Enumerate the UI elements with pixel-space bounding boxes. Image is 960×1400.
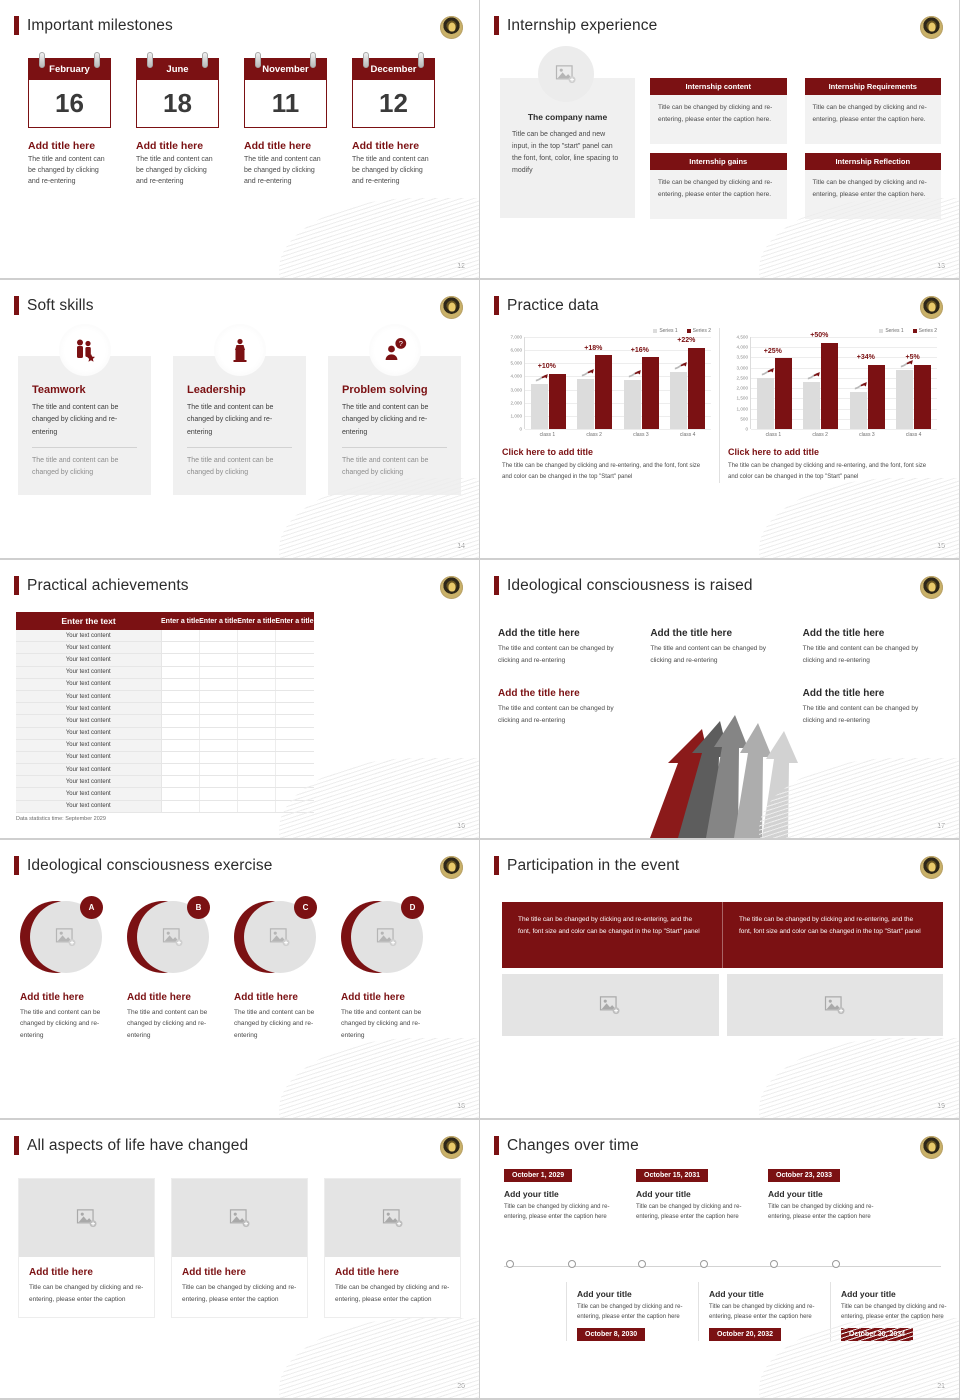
list-item: D Add title here The title and content c…: [341, 898, 426, 1041]
title-accent-bar: [494, 16, 499, 35]
page-number: 20: [457, 1383, 465, 1390]
table-cell[interactable]: [161, 715, 199, 727]
table-cell[interactable]: [275, 642, 313, 654]
table-cell-label: Your text content: [16, 654, 161, 666]
timeline-body: Title can be changed by clicking and re-…: [577, 1302, 686, 1322]
table-header-cell: Enter a title: [199, 612, 237, 630]
circle-image[interactable]: D: [341, 898, 426, 978]
bar-annotation: +50%: [810, 332, 828, 339]
table-cell[interactable]: [161, 788, 199, 800]
item-body: The title and content can be changed by …: [127, 1007, 212, 1041]
y-tick-label: 1,000: [737, 406, 749, 411]
bar-chart: 01,0002,0003,0004,0005,0006,0007,000 +10…: [502, 337, 711, 429]
calendar-day: 12: [353, 80, 434, 127]
university-emblem-icon: [920, 576, 943, 599]
calendar-ring-icon: [94, 52, 100, 68]
item-badge: A: [80, 896, 103, 919]
table-cell-label: Your text content: [16, 788, 161, 800]
list-item: A Add title here The title and content c…: [20, 898, 105, 1041]
table-cell-label: Your text content: [16, 776, 161, 788]
bar-chart: 05001,0001,5002,0002,5003,0003,5004,0004…: [728, 337, 937, 429]
calendar-ring-icon: [147, 52, 153, 68]
page-title: Practice data: [507, 297, 599, 315]
timeline-marker: [568, 1260, 576, 1268]
band-text-left: The title can be changed by clicking and…: [502, 902, 722, 968]
quadrant-body: Title can be changed by clicking and re-…: [805, 170, 942, 219]
y-axis: 01,0002,0003,0004,0005,0006,0007,000: [502, 337, 524, 429]
item-heading: Add title here: [28, 140, 111, 152]
item-heading: Add title here: [341, 992, 426, 1003]
timeline-body: Title can be changed by clicking and re-…: [768, 1202, 888, 1222]
title-accent-bar: [494, 296, 499, 315]
bar-annotation: +18%: [584, 345, 602, 352]
slide-header: Participation in the event: [494, 856, 679, 875]
bar-group: +50%: [798, 337, 845, 429]
growth-arrow-icon: [598, 703, 848, 838]
slide-all-aspects-of-life-changed: All aspects of life have changed Add tit…: [0, 1120, 480, 1400]
growth-arrow-icon: [807, 371, 820, 380]
title-accent-bar: [494, 856, 499, 875]
timeline-marker: [638, 1260, 646, 1268]
plot-area: +10% +18% +16% +22%: [524, 337, 711, 429]
company-body: Title can be changed and new input, in t…: [512, 129, 623, 177]
bar-series-1: [803, 382, 820, 429]
list-item: Add title here Title can be changed by c…: [18, 1178, 155, 1318]
legend-entry: Series 1: [879, 328, 903, 334]
table-row: Your text content: [16, 678, 314, 690]
list-item: ? Problem solving The title and content …: [328, 356, 461, 495]
calendar-ring-icon: [363, 52, 369, 68]
table-cell-label: Your text content: [16, 642, 161, 654]
y-tick-label: 1,500: [737, 396, 749, 401]
growth-arrow-icon: [900, 359, 913, 368]
plot-area: +25% +50% +34% +5%: [750, 337, 937, 429]
page-number: 14: [457, 543, 465, 550]
table-cell[interactable]: [199, 715, 237, 727]
quadrant-heading: Internship Requirements: [805, 78, 942, 95]
slide-header: Ideological consciousness is raised: [494, 576, 753, 595]
divider: [32, 447, 137, 448]
table-cell-label: Your text content: [16, 690, 161, 702]
y-tick-label: 2,000: [737, 386, 749, 391]
person-question-glyph: ?: [382, 337, 408, 363]
image-placeholder-glyph: [229, 1209, 251, 1228]
image-placeholder-icon[interactable]: [538, 46, 594, 102]
timeline-item-top: October 15, 2031 Add your title Title ca…: [636, 1164, 756, 1222]
table-cell[interactable]: [237, 776, 275, 788]
table-cell[interactable]: [199, 690, 237, 702]
page-number: 16: [457, 823, 465, 830]
bar-groups: +10% +18% +16% +22%: [525, 337, 711, 429]
block-heading: Add the title here: [650, 628, 788, 639]
growth-arrow-icon: [674, 361, 687, 370]
table-cell[interactable]: [237, 727, 275, 739]
table-row: Your text content: [16, 751, 314, 763]
table-cell[interactable]: [199, 751, 237, 763]
skill-list: Teamwork The title and content can be ch…: [18, 356, 461, 495]
slide-practice-data: Practice data Series 1Series 2 01,0002,0…: [480, 280, 960, 560]
speaker-podium-icon: [214, 324, 266, 376]
quadrant-internship-content: Internship content Title can be changed …: [650, 78, 787, 144]
skill-body-primary: The title and content can be changed by …: [32, 402, 137, 439]
table-cell[interactable]: [275, 727, 313, 739]
bar-group: +22%: [665, 337, 712, 429]
table-cell[interactable]: [199, 776, 237, 788]
y-tick-label: 3,500: [737, 355, 749, 360]
table-row: Your text content: [16, 666, 314, 678]
image-placeholder-icon[interactable]: [172, 1179, 307, 1257]
table-cell[interactable]: [161, 654, 199, 666]
arrow-wrap: [632, 369, 645, 378]
skill-body-primary: The title and content can be changed by …: [342, 402, 447, 439]
title-accent-bar: [494, 576, 499, 595]
slide-ideological-consciousness-exercise: Ideological consciousness exercise A Add…: [0, 840, 480, 1120]
x-tick-label: class 4: [890, 429, 937, 438]
arrow-wrap: [811, 371, 824, 380]
table-cell[interactable]: [275, 715, 313, 727]
timeline-marker: [700, 1260, 708, 1268]
table-cell-label: Your text content: [16, 739, 161, 751]
item-badge: D: [401, 896, 424, 919]
list-item: Add the title here The title and content…: [803, 628, 941, 666]
chart-caption-body: The title can be changed by clicking and…: [728, 461, 937, 483]
milestone-list: February 16 Add title here The title and…: [28, 58, 461, 188]
card-body: Add title here Title can be changed by c…: [172, 1257, 307, 1317]
bar-series-1: [896, 370, 913, 429]
skill-body-secondary: The title and content can be changed by …: [32, 455, 137, 480]
growth-arrow-icon: [628, 369, 641, 378]
bar-annotation: +25%: [764, 348, 782, 355]
item-badge: C: [294, 896, 317, 919]
table-header-cell: Enter a title: [275, 612, 313, 630]
slide-header: Practice data: [494, 296, 599, 315]
table-cell[interactable]: [161, 642, 199, 654]
table-cell[interactable]: [275, 630, 313, 642]
table-cell[interactable]: [237, 764, 275, 776]
item-heading: Add title here: [352, 140, 435, 152]
circle-image[interactable]: A: [20, 898, 105, 978]
item-badge: B: [187, 896, 210, 919]
table-cell[interactable]: [237, 678, 275, 690]
table-cell[interactable]: [199, 678, 237, 690]
timeline-body: Title can be changed by clicking and re-…: [709, 1302, 818, 1322]
quadrant-internship-reflection: Internship Reflection Title can be chang…: [805, 153, 942, 219]
table-cell[interactable]: [161, 678, 199, 690]
x-tick-label: class 2: [797, 429, 844, 438]
x-axis: class 1class 2class 3class 4: [524, 429, 711, 438]
page-title: Soft skills: [27, 297, 94, 315]
table-cell[interactable]: [275, 703, 313, 715]
growth-arrow-icon: [535, 373, 548, 382]
bar-series-1: [577, 379, 594, 429]
divider: [342, 447, 447, 448]
x-tick-label: class 1: [750, 429, 797, 438]
table-cell[interactable]: [237, 703, 275, 715]
item-heading: Add title here: [127, 992, 212, 1003]
y-axis: 05001,0001,5002,0002,5003,0003,5004,0004…: [728, 337, 750, 429]
image-placeholder-glyph: [555, 65, 577, 84]
calendar-icon: December 12: [352, 58, 435, 128]
image-placeholder-icon[interactable]: [325, 1179, 460, 1257]
timeline: October 1, 2029 Add your title Title can…: [496, 1164, 945, 1379]
list-item: B Add title here The title and content c…: [127, 898, 212, 1041]
university-emblem-icon: [920, 16, 943, 39]
skill-title: Leadership: [187, 384, 292, 396]
calendar-icon: February 16: [28, 58, 111, 128]
chart-caption-heading: Click here to add title: [728, 447, 937, 457]
x-tick-label: class 3: [618, 429, 665, 438]
achievements-table: Enter the textEnter a titleEnter a title…: [16, 612, 314, 813]
table-cell[interactable]: [161, 739, 199, 751]
table-cell[interactable]: [199, 727, 237, 739]
table-row: Your text content: [16, 654, 314, 666]
table-cell[interactable]: [275, 654, 313, 666]
item-heading: Add title here: [244, 140, 327, 152]
table-cell-label: Your text content: [16, 703, 161, 715]
exercise-list: A Add title here The title and content c…: [20, 898, 465, 1041]
quadrant-heading: Internship content: [650, 78, 787, 95]
table-body: Your text contentYour text contentYour t…: [16, 630, 314, 812]
bar-annotation: +16%: [631, 347, 649, 354]
list-item: Add the title here The title and content…: [498, 628, 636, 666]
table-cell[interactable]: [237, 630, 275, 642]
image-row: [502, 974, 943, 1036]
block-body: The title and content can be changed by …: [498, 643, 636, 666]
table-cell[interactable]: [199, 630, 237, 642]
table-cell[interactable]: [161, 690, 199, 702]
table-cell-label: Your text content: [16, 800, 161, 812]
table-header-cell: Enter the text: [16, 612, 161, 630]
table-cell[interactable]: [199, 642, 237, 654]
arrow-row-top: Add the title here The title and content…: [498, 628, 941, 666]
x-tick-label: class 3: [844, 429, 891, 438]
university-emblem-icon: [440, 576, 463, 599]
table-row: Your text content: [16, 642, 314, 654]
slide-internship-experience: Internship experience The company name T…: [480, 0, 960, 280]
table-cell[interactable]: [199, 800, 237, 812]
y-tick-label: 4,000: [737, 345, 749, 350]
table-cell[interactable]: [275, 788, 313, 800]
circle-image[interactable]: C: [234, 898, 319, 978]
y-tick-label: 3,000: [511, 387, 523, 392]
company-name: The company name: [512, 112, 623, 122]
quadrant-internship-requirements: Internship Requirements Title can be cha…: [805, 78, 942, 144]
table-row: Your text content: [16, 776, 314, 788]
table-cell[interactable]: [199, 666, 237, 678]
chart-caption-body: The title can be changed by clicking and…: [502, 461, 711, 483]
table-cell[interactable]: [275, 666, 313, 678]
slide-header: Practical achievements: [14, 576, 189, 595]
table-cell[interactable]: [275, 739, 313, 751]
table-cell[interactable]: [275, 764, 313, 776]
image-placeholder-glyph: [162, 928, 184, 947]
quadrant-body: Title can be changed by clicking and re-…: [805, 95, 942, 144]
page-number: 15: [937, 543, 945, 550]
image-placeholder-glyph: [376, 928, 398, 947]
table-cell[interactable]: [199, 703, 237, 715]
text-band: The title can be changed by clicking and…: [502, 902, 943, 968]
y-tick-label: 4,500: [737, 335, 749, 340]
calendar-day: 11: [245, 80, 326, 127]
table-cell-label: Your text content: [16, 666, 161, 678]
table-cell[interactable]: [161, 727, 199, 739]
bar-series-2: [914, 365, 931, 429]
table-cell[interactable]: [161, 666, 199, 678]
legend-swatch: [913, 329, 917, 333]
item-heading: Add title here: [136, 140, 219, 152]
arrow-wrap: [858, 381, 871, 390]
bar-series-1: [670, 372, 687, 429]
bar-series-1: [624, 380, 641, 429]
table-header-cell: Enter a title: [237, 612, 275, 630]
page-number: 21: [937, 1383, 945, 1390]
list-item: June 18 Add title here The title and con…: [136, 58, 219, 188]
title-accent-bar: [14, 16, 19, 35]
list-item: Add title here Title can be changed by c…: [324, 1178, 461, 1318]
y-tick-label: 2,500: [737, 375, 749, 380]
list-item: November 11 Add title here The title and…: [244, 58, 327, 188]
table-row: Your text content: [16, 727, 314, 739]
page-number: 18: [457, 1103, 465, 1110]
table-cell[interactable]: [275, 800, 313, 812]
skill-title: Problem solving: [342, 384, 447, 396]
page-title: Practical achievements: [27, 577, 189, 595]
timeline-body: Title can be changed by clicking and re-…: [504, 1202, 624, 1222]
timeline-heading: Add your title: [768, 1189, 888, 1199]
skill-title: Teamwork: [32, 384, 137, 396]
table-cell[interactable]: [161, 764, 199, 776]
table-cell[interactable]: [237, 751, 275, 763]
title-accent-bar: [14, 576, 19, 595]
card-heading: Add title here: [335, 1267, 450, 1278]
image-placeholder-glyph: [382, 1209, 404, 1228]
quadrant-internship-gains: Internship gains Title can be changed by…: [650, 153, 787, 219]
y-tick-label: 7,000: [511, 335, 523, 340]
y-tick-label: 2,000: [511, 400, 523, 405]
image-placeholder-icon[interactable]: [727, 974, 944, 1036]
bar-groups: +25% +50% +34% +5%: [751, 337, 937, 429]
team-people-star-icon: [59, 324, 111, 376]
table-cell[interactable]: [199, 788, 237, 800]
growth-arrow-icon: [854, 381, 867, 390]
table-cell[interactable]: [275, 690, 313, 702]
table-cell[interactable]: [275, 751, 313, 763]
company-panel: The company name Title can be changed an…: [500, 78, 635, 218]
quadrant-heading: Internship gains: [650, 153, 787, 170]
slide-header: Changes over time: [494, 1136, 639, 1155]
item-body: The title and content can be changed by …: [244, 155, 327, 188]
table-cell[interactable]: [237, 788, 275, 800]
timeline-item-bottom: Add your title Title can be changed by c…: [698, 1282, 818, 1341]
bar-group: +18%: [572, 337, 619, 429]
table-cell[interactable]: [199, 654, 237, 666]
table-cell[interactable]: [237, 800, 275, 812]
legend-swatch: [879, 329, 883, 333]
bar-series-1: [757, 378, 774, 429]
x-tick-label: class 4: [664, 429, 711, 438]
calendar-ring-icon: [310, 52, 316, 68]
table-cell[interactable]: [275, 678, 313, 690]
chart-caption-heading: Click here to add title: [502, 447, 711, 457]
band-text-right: The title can be changed by clicking and…: [722, 902, 943, 968]
image-placeholder-glyph: [599, 996, 621, 1015]
table-cell[interactable]: [275, 776, 313, 788]
circle-image[interactable]: B: [127, 898, 212, 978]
timeline-marker: [770, 1260, 778, 1268]
table-cell[interactable]: [161, 776, 199, 788]
card-body: Add title here Title can be changed by c…: [325, 1257, 460, 1317]
table-cell[interactable]: [237, 690, 275, 702]
page-number: 17: [937, 823, 945, 830]
quadrant-body: Title can be changed by clicking and re-…: [650, 170, 787, 219]
table-cell[interactable]: [161, 800, 199, 812]
bar-group: +5%: [891, 337, 938, 429]
table-row: Your text content: [16, 764, 314, 776]
gridline: [525, 429, 711, 430]
university-emblem-icon: [440, 16, 463, 39]
table-cell-label: Your text content: [16, 630, 161, 642]
card-heading: Add title here: [182, 1267, 297, 1278]
list-item: February 16 Add title here The title and…: [28, 58, 111, 188]
slide-header: Ideological consciousness exercise: [14, 856, 273, 875]
calendar-ring-icon: [418, 52, 424, 68]
title-accent-bar: [494, 1136, 499, 1155]
legend-entry: Series 2: [687, 328, 711, 334]
table-cell[interactable]: [199, 764, 237, 776]
table-cell[interactable]: [237, 642, 275, 654]
bar-series-1: [531, 384, 548, 429]
slide-important-milestones: Important milestones February 16 Add tit…: [0, 0, 480, 280]
timeline-body: Title can be changed by clicking and re-…: [636, 1202, 756, 1222]
timeline-heading: Add your title: [504, 1189, 624, 1199]
table-cell[interactable]: [161, 630, 199, 642]
table-cell[interactable]: [161, 703, 199, 715]
bar-series-2: [868, 365, 885, 429]
arrow-wrap: [585, 368, 598, 377]
page-title: Ideological consciousness exercise: [27, 857, 273, 875]
chart-legend: Series 1Series 2: [502, 328, 711, 334]
table-cell[interactable]: [199, 739, 237, 751]
page-title: Ideological consciousness is raised: [507, 577, 753, 595]
bar-group: +34%: [844, 337, 891, 429]
bar-annotation: +34%: [857, 354, 875, 361]
page-title: Changes over time: [507, 1137, 639, 1155]
image-placeholder-icon[interactable]: [502, 974, 719, 1036]
table-cell[interactable]: [237, 654, 275, 666]
svg-text:?: ?: [398, 339, 402, 348]
timeline-item-top: October 23, 2033 Add your title Title ca…: [768, 1164, 888, 1222]
timeline-heading: Add your title: [636, 1189, 756, 1199]
skill-body-primary: The title and content can be changed by …: [187, 402, 292, 439]
table-cell-label: Your text content: [16, 751, 161, 763]
table-cell[interactable]: [237, 739, 275, 751]
page-title: Internship experience: [507, 17, 657, 35]
chart-legend: Series 1Series 2: [728, 328, 937, 334]
image-placeholder-icon[interactable]: [19, 1179, 154, 1257]
calendar-icon: November 11: [244, 58, 327, 128]
card-text: Title can be changed by clicking and re-…: [182, 1282, 297, 1305]
table-cell[interactable]: [161, 751, 199, 763]
slide-header: Internship experience: [494, 16, 657, 35]
quadrant-heading: Internship Reflection: [805, 153, 942, 170]
legend-entry: Series 1: [653, 328, 677, 334]
table-cell[interactable]: [237, 666, 275, 678]
slide-participation-in-the-event: Participation in the event The title can…: [480, 840, 960, 1120]
table-cell[interactable]: [237, 715, 275, 727]
page-number: 19: [937, 1103, 945, 1110]
bar-series-2: [688, 348, 705, 429]
timeline-date: October 15, 2031: [636, 1169, 708, 1182]
